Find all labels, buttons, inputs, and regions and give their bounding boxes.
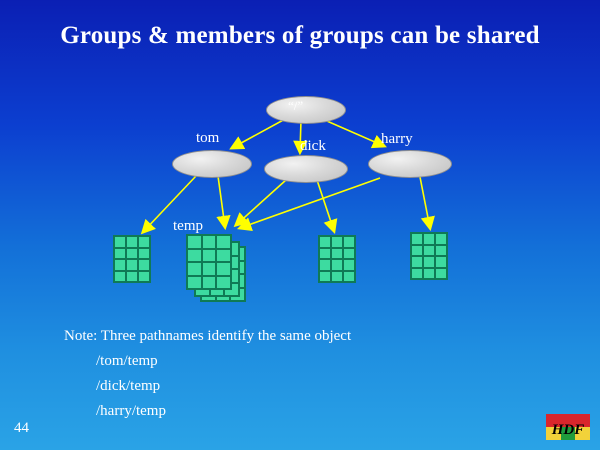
- dataset-cell: [115, 272, 125, 282]
- dataset-cell: [320, 237, 330, 247]
- dataset-cell: [436, 246, 446, 256]
- arrow-dick-dsmid: [317, 180, 334, 231]
- dataset-cell: [217, 277, 230, 289]
- arrow-layer: [0, 0, 600, 450]
- dataset-cell: [424, 234, 434, 244]
- dataset-cell: [115, 249, 125, 259]
- dataset-cell: [344, 249, 354, 259]
- dataset-cell: [412, 257, 422, 267]
- arrow-harry-dsright: [420, 177, 430, 228]
- dataset-cell: [188, 263, 201, 275]
- dataset-cell: [332, 249, 342, 259]
- dataset-cell: [127, 272, 137, 282]
- note-path-dick: /dick/temp: [96, 378, 160, 395]
- dataset-cell: [332, 260, 342, 270]
- dataset-cell: [344, 260, 354, 270]
- page-number: 44: [14, 420, 29, 437]
- dataset-cell: [344, 272, 354, 282]
- dataset-cell: [203, 250, 216, 262]
- hdf-logo: HDF: [546, 414, 590, 440]
- dataset-cell: [127, 260, 137, 270]
- dataset-cell: [188, 277, 201, 289]
- dataset-cell: [217, 263, 230, 275]
- dataset-middle: [318, 235, 356, 283]
- arrow-dick-temp: [236, 180, 286, 225]
- dataset-cell: [424, 269, 434, 279]
- group-node-harry: [368, 150, 452, 178]
- dataset-cell: [412, 269, 422, 279]
- dataset-cell: [203, 277, 216, 289]
- dataset-cell: [127, 237, 137, 247]
- dataset-cell: [139, 249, 149, 259]
- dataset-cell: [320, 249, 330, 259]
- dataset-cell: [332, 272, 342, 282]
- group-node-tom: [172, 150, 252, 178]
- dataset-cell: [412, 246, 422, 256]
- dataset-cell: [203, 236, 216, 248]
- dataset-cell: [139, 260, 149, 270]
- node-label-dick: dick: [300, 138, 326, 155]
- dataset-cell: [127, 249, 137, 259]
- dataset-cell: [320, 272, 330, 282]
- dataset-cell: [424, 257, 434, 267]
- dataset-temp: [186, 234, 232, 290]
- group-node-dick: [264, 155, 348, 183]
- dataset-cell: [332, 237, 342, 247]
- node-label-temp: temp: [173, 218, 203, 235]
- dataset-cell: [436, 234, 446, 244]
- dataset-right: [410, 232, 448, 280]
- dataset-cell: [217, 250, 230, 262]
- dataset-cell: [320, 260, 330, 270]
- dataset-cell: [115, 237, 125, 247]
- dataset-cell: [344, 237, 354, 247]
- dataset-cell: [436, 257, 446, 267]
- dataset-cell: [203, 263, 216, 275]
- node-label-root: “/”: [288, 98, 303, 114]
- note-line-1: Note: Three pathnames identify the same …: [64, 328, 351, 345]
- dataset-cell: [115, 260, 125, 270]
- dataset-cell: [424, 246, 434, 256]
- dataset-cell: [412, 234, 422, 244]
- arrow-harry-temp: [240, 178, 380, 228]
- dataset-cell: [139, 272, 149, 282]
- node-label-tom: tom: [196, 130, 219, 147]
- note-path-harry: /harry/temp: [96, 403, 166, 420]
- dataset-cell: [188, 250, 201, 262]
- dataset-left: [113, 235, 151, 283]
- group-node-root: [266, 96, 346, 124]
- dataset-cell: [217, 236, 230, 248]
- dataset-cell: [139, 237, 149, 247]
- arrow-root-tom: [232, 118, 287, 148]
- note-path-tom: /tom/temp: [96, 353, 158, 370]
- page-title: Groups & members of groups can be shared: [0, 22, 600, 50]
- node-label-harry: harry: [381, 131, 413, 148]
- arrow-tom-temp: [218, 176, 225, 227]
- dataset-cell: [436, 269, 446, 279]
- arrow-root-harry: [320, 118, 384, 146]
- dataset-cell: [188, 236, 201, 248]
- hdf-logo-text: HDF: [551, 422, 585, 438]
- slide: Groups & members of groups can be shared: [0, 0, 600, 450]
